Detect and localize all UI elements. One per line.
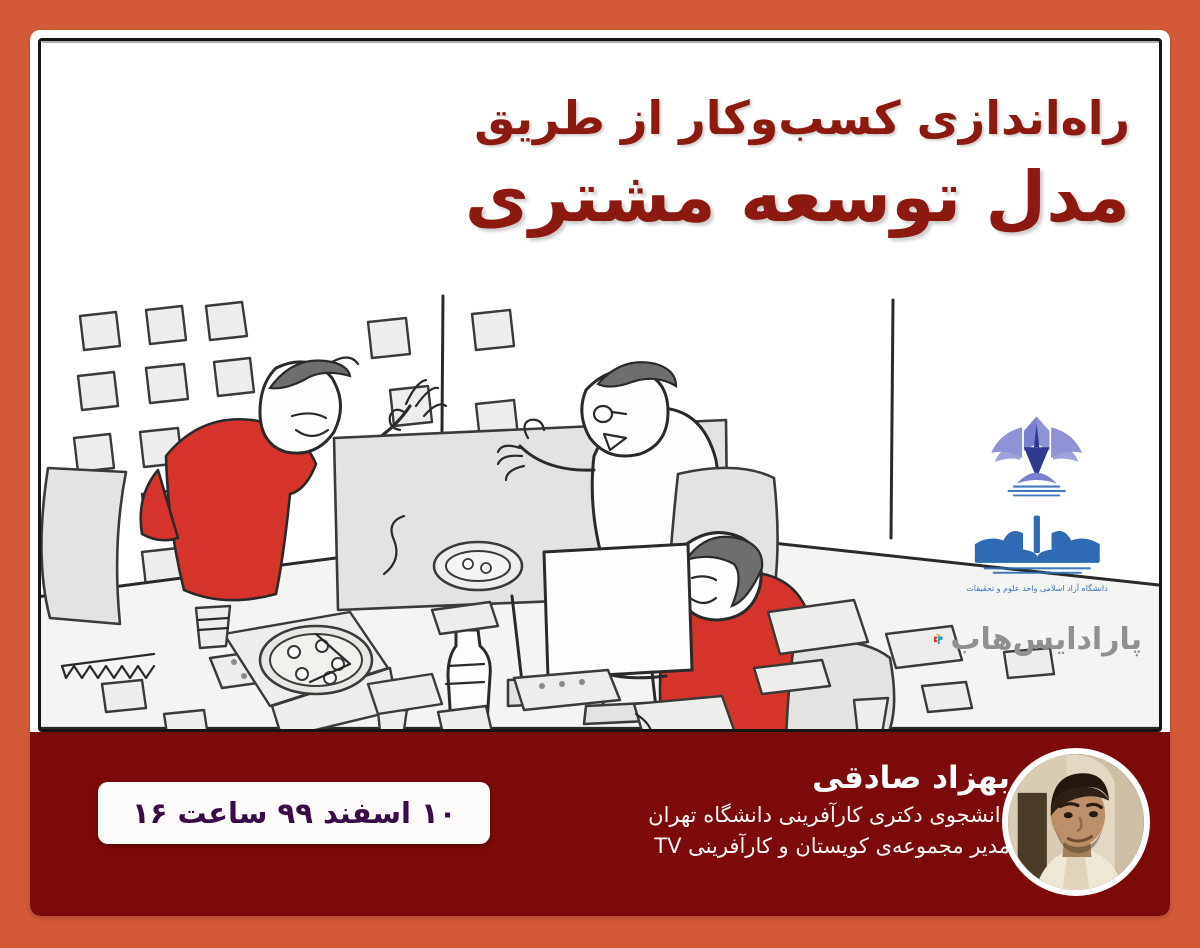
logo-strip: دانشگاه آزاد اسلامی واحد علوم و تحقیقات … <box>932 400 1142 686</box>
poster-root: .ln{fill:none;stroke:#2a2a2a;stroke-widt… <box>0 0 1200 948</box>
poster-card: .ln{fill:none;stroke:#2a2a2a;stroke-widt… <box>30 30 1170 916</box>
speaker-portrait-image <box>1008 754 1144 890</box>
page-title: مدل توسعه مشتری <box>290 154 1130 242</box>
speaker-info: بهزاد صادقی دانشجوی دکتری کارآفرینی دانش… <box>450 758 1010 863</box>
title-line-1: راه‌اندازی کسب‌وکار از طریق <box>290 90 1130 148</box>
title-block: راه‌اندازی کسب‌وکار از طریق مدل توسعه مش… <box>290 90 1130 241</box>
srb-logo-caption: دانشگاه آزاد اسلامی واحد علوم و تحقیقات <box>932 584 1142 593</box>
azad-emblem-icon <box>973 400 1100 500</box>
paradise-hub-logo: پارادایس‌هاب <box>932 604 1142 674</box>
srb-emblem-icon <box>957 512 1118 578</box>
islamic-azad-university-logo <box>932 400 1142 500</box>
paradise-hub-label: پارادایس‌هاب <box>950 622 1142 657</box>
science-and-research-branch-logo: دانشگاه آزاد اسلامی واحد علوم و تحقیقات <box>932 512 1142 592</box>
speaker-name: بهزاد صادقی <box>450 758 1010 800</box>
speaker-avatar <box>1002 748 1150 896</box>
date-badge: ۱۰ اسفند ۹۹ ساعت ۱۶ <box>98 782 490 844</box>
footer-bar: ۱۰ اسفند ۹۹ ساعت ۱۶ بهزاد صادقی دانشجوی … <box>30 732 1170 916</box>
speaker-role-line-1: دانشجوی دکتری کارآفرینی دانشگاه تهران <box>450 800 1010 832</box>
speaker-role-line-2: مدیر مجموعه‌ی کویستان و کارآفرینی TV <box>450 831 1010 863</box>
paradise-hub-cp-monogram-icon <box>932 610 944 668</box>
